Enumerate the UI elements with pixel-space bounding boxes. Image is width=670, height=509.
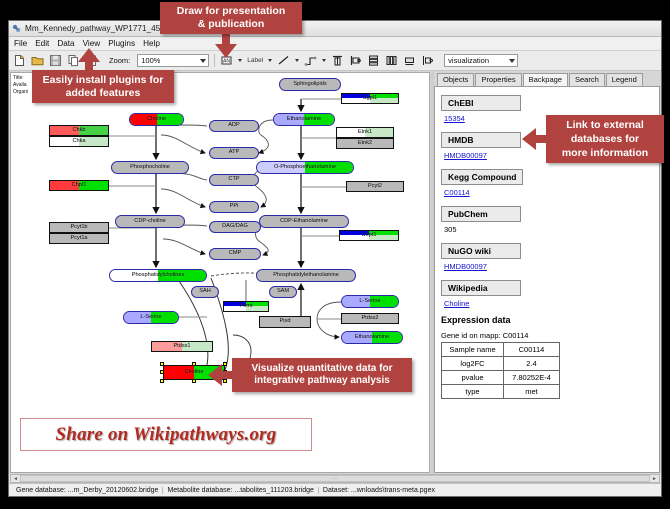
pathway-gene-sgpl1[interactable]: Sgpl1 <box>341 93 399 104</box>
callout-links-arrow <box>522 128 536 150</box>
chevron-down-icon <box>509 59 515 63</box>
node-label: SAH <box>199 289 211 295</box>
pathway-node-adp[interactable]: ADP <box>209 120 259 132</box>
node-label: Pisd <box>280 319 291 325</box>
open-folder-icon[interactable] <box>31 54 44 67</box>
pathway-gene-etnk1[interactable]: Etnk1 <box>336 127 394 138</box>
node-label: Ptdss1 <box>173 344 190 350</box>
line-dropdown-caret[interactable] <box>295 59 299 62</box>
pathway-gene-pcyt1a[interactable]: Pcyt1a <box>49 233 109 244</box>
node-label: Etnk2 <box>358 141 372 147</box>
pathway-node-l-serine-right[interactable]: L-Serine <box>341 295 399 308</box>
callout-draw-arrow <box>215 44 237 58</box>
menu-bar: File Edit Data View Plugins Help <box>9 37 661 51</box>
section-heading: NuGO wiki <box>441 243 521 259</box>
node-label: Phosphocholine <box>130 165 170 171</box>
backpage-section-wikipedia: Wikipedia Choline <box>441 278 659 308</box>
node-label: DAG/DAG <box>222 224 248 230</box>
callout-share: Share on Wikipathways.org <box>20 418 312 451</box>
pathway-gene-chka[interactable]: Chka <box>49 136 109 147</box>
connector-dropdown-caret[interactable] <box>322 59 326 62</box>
horizontal-scrollbar[interactable]: ◄ ⋯ ► <box>10 474 660 483</box>
gene-id-line: Gene id on mapp: C00114 <box>441 331 659 340</box>
node-label: SAM <box>277 289 289 295</box>
pathway-gene-ptdss2[interactable]: Ptdss2 <box>341 313 399 324</box>
same-width-icon[interactable] <box>403 54 416 67</box>
row-key: pvalue <box>442 371 504 385</box>
align-top-icon[interactable] <box>331 54 344 67</box>
zoom-label: Zoom: <box>109 56 130 65</box>
svg-text:AN: AN <box>223 58 230 64</box>
node-label: Sgpl1 <box>363 96 377 102</box>
pathway-gene-chkb[interactable]: Chkb <box>49 125 109 136</box>
node-label: CMP <box>229 251 241 257</box>
align-left-icon[interactable] <box>349 54 362 67</box>
side-panel-tabs: Objects Properties Backpage Search Legen… <box>434 72 660 86</box>
label-tool-label[interactable]: Label <box>247 57 263 64</box>
pathway-node-ethanolamine[interactable]: Ethanolamine <box>273 113 335 126</box>
pathway-node-phosphatidylethanolamine[interactable]: Phosphatidylethanolamine <box>256 269 356 282</box>
nugo-link[interactable]: HMDB00097 <box>444 262 659 271</box>
callout-share-text: Share on Wikipathways.org <box>56 424 277 446</box>
selection-handle[interactable] <box>192 379 196 383</box>
tab-properties[interactable]: Properties <box>475 73 521 86</box>
pathway-node-cmp[interactable]: CMP <box>209 248 261 260</box>
row-value: 2.4 <box>504 357 560 371</box>
section-heading: ChEBI <box>441 95 521 111</box>
pathway-node-cdp-ethanolamine[interactable]: CDP-Ethanolamine <box>259 215 349 228</box>
zoom-combobox[interactable]: 100% <box>137 54 209 67</box>
pathway-node-ppi[interactable]: PPi <box>209 201 259 213</box>
callout-plugins-line2: added features <box>66 87 141 100</box>
node-label: Ethanolamine <box>355 335 389 341</box>
callout-visualize-line2: integrative pathway analysis <box>254 375 390 387</box>
status-metabolite-database: Metabolite database: ...tabolites_111203… <box>163 487 318 494</box>
selection-handle[interactable] <box>223 362 227 366</box>
callout-visualize-line1: Visualize quantitative data for <box>252 363 393 375</box>
node-label: Choline <box>147 117 166 123</box>
row-key: Sample name <box>442 343 504 357</box>
pathway-gene-pemt[interactable]: Pemt <box>223 301 269 312</box>
callout-links-line3: more information <box>562 146 648 160</box>
callout-links-line1: Link to external <box>566 118 644 132</box>
node-label: Choline <box>185 370 204 376</box>
node-label: Phosphatidylethanolamine <box>273 273 339 279</box>
scrollbar-thumb[interactable]: ⋯ <box>20 475 650 482</box>
section-heading: HMDB <box>441 132 521 148</box>
node-label: Ptdss2 <box>361 316 378 322</box>
line-icon[interactable] <box>277 54 290 67</box>
node-label: CDP-Ethanolamine <box>280 219 328 225</box>
pathway-gene-cept1[interactable]: Cept1 <box>339 230 399 241</box>
zoom-value: 100% <box>141 56 160 65</box>
pathway-gene-ptdss1[interactable]: Ptdss1 <box>151 341 213 352</box>
node-label: Chkb <box>72 128 85 134</box>
tab-legend[interactable]: Legend <box>606 73 643 86</box>
callout-visualize: Visualize quantitative data for integrat… <box>232 358 412 392</box>
pathway-node-phosphocholine[interactable]: Phosphocholine <box>111 161 189 174</box>
pubchem-value: 305 <box>444 225 659 234</box>
menu-help[interactable]: Help <box>143 39 160 48</box>
pathway-node-cdp-choline[interactable]: CDP-choline <box>115 215 185 228</box>
selection-handle[interactable] <box>223 379 227 383</box>
callout-visualize-arrow <box>208 364 222 386</box>
pathway-gene-pcyt2[interactable]: Pcyt2 <box>346 181 404 192</box>
node-label: Chka <box>72 139 85 145</box>
pathway-gene-chpt1[interactable]: Chpt1 <box>49 180 109 191</box>
pathway-node-choline-top[interactable]: Choline <box>129 113 184 126</box>
callout-plugins: Easily install plugins for added feature… <box>32 70 174 103</box>
node-label: Ethanolamine <box>287 117 321 123</box>
menu-file[interactable]: File <box>14 39 27 48</box>
row-key: type <box>442 385 504 399</box>
pathway-gene-pisd[interactable]: Pisd <box>259 316 311 328</box>
save-disk-icon[interactable] <box>49 54 62 67</box>
callout-draw-line1: Draw for presentation <box>177 5 286 18</box>
callout-draw: Draw for presentation & publication <box>160 2 302 34</box>
tab-backpage[interactable]: Backpage <box>523 73 568 87</box>
visualization-value: visualization <box>448 56 489 65</box>
expression-data-table: Sample name C00114 log2FC 2.4 pvalue 7.8… <box>441 342 560 399</box>
menu-data[interactable]: Data <box>57 39 74 48</box>
node-label: L-Serine <box>140 315 161 321</box>
pathway-node-sam[interactable]: SAM <box>269 286 297 298</box>
same-height-icon[interactable] <box>421 54 434 67</box>
callout-links-line2: databases for <box>571 132 639 146</box>
callout-links: Link to external databases for more info… <box>546 115 664 163</box>
expression-data-title: Expression data <box>441 315 659 325</box>
wikipedia-link[interactable]: Choline <box>444 299 659 308</box>
section-heading: Kegg Compound <box>441 169 523 185</box>
node-label: Pcyt1a <box>70 236 87 242</box>
callout-plugins-arrow <box>78 48 100 62</box>
pathway-node-dag[interactable]: DAG/DAG <box>209 221 261 233</box>
node-label: CTP <box>228 177 239 183</box>
title-bar: Mm_Kennedy_pathway_WP1771_45176.gpml <box>9 21 661 37</box>
pathway-node-sah[interactable]: SAH <box>191 286 219 298</box>
backpage-section-kegg: Kegg Compound C00114 <box>441 167 659 197</box>
callout-draw-line2: & publication <box>198 18 265 31</box>
node-label: Etnk1 <box>358 130 372 136</box>
distribute-horizontal-icon[interactable] <box>385 54 398 67</box>
tab-objects[interactable]: Objects <box>437 73 474 86</box>
scroll-left-arrow-icon[interactable]: ◄ <box>11 475 20 482</box>
node-label: Phosphatidylcholines <box>132 273 185 279</box>
status-bar: Gene database: ...m_Derby_20120602.bridg… <box>9 483 661 496</box>
backpage-section-pubchem: PubChem 305 <box>441 204 659 234</box>
node-label: Pcyt2 <box>368 184 382 190</box>
pathway-node-sphingolipids[interactable]: Sphingolipids <box>279 78 341 91</box>
pathway-node-l-serine-left[interactable]: L-Serine <box>123 311 179 324</box>
node-label: ATP <box>229 150 239 156</box>
scroll-right-arrow-icon[interactable]: ► <box>650 475 659 482</box>
pathway-gene-pcyt1b[interactable]: Pcyt1b <box>49 222 109 233</box>
datanode-dropdown-caret[interactable] <box>238 59 242 62</box>
status-dataset: Dataset: ...wnloads\trans-meta.pgex <box>319 487 439 494</box>
toolbar: Zoom: 100% AN Label <box>9 51 661 71</box>
row-key: log2FC <box>442 357 504 371</box>
status-gene-database: Gene database: ...m_Derby_20120602.bridg… <box>12 487 163 494</box>
pathway-node-ethanolamine-lower[interactable]: Ethanolamine <box>341 331 403 344</box>
node-label: PPi <box>230 204 239 210</box>
pathway-canvas[interactable]: Title: Availa Organi <box>10 72 430 473</box>
section-heading: Wikipedia <box>441 280 521 296</box>
callout-plugins-line1: Easily install plugins for <box>43 74 164 87</box>
elbow-connector-icon[interactable] <box>304 54 317 67</box>
node-label: Cept1 <box>362 233 377 239</box>
label-dropdown-caret[interactable] <box>268 59 272 62</box>
row-value: met <box>504 385 560 399</box>
node-label: Sphingolipids <box>293 82 326 88</box>
node-label: Pcyt1b <box>70 225 87 231</box>
selection-handle[interactable] <box>160 362 164 366</box>
node-label: O-Phosphoethanolamine <box>274 165 336 171</box>
pathway-node-ctp[interactable]: CTP <box>209 174 259 186</box>
stack-vertical-icon[interactable] <box>367 54 380 67</box>
app-icon <box>12 24 21 33</box>
section-heading: PubChem <box>441 206 521 222</box>
node-label: CDP-choline <box>134 219 165 225</box>
table-row: log2FC 2.4 <box>442 357 560 371</box>
menu-plugins[interactable]: Plugins <box>108 39 135 48</box>
pathway-node-o-phosphoethanolamine[interactable]: O-Phosphoethanolamine <box>256 161 354 174</box>
node-label: Pemt <box>239 304 252 310</box>
node-label: ADP <box>228 123 240 129</box>
pathway-node-phosphatidylcholines[interactable]: Phosphatidylcholines <box>109 269 207 282</box>
row-value: C00114 <box>504 343 560 357</box>
table-row: Sample name C00114 <box>442 343 560 357</box>
kegg-link[interactable]: C00114 <box>444 188 659 197</box>
pathway-node-atp[interactable]: ATP <box>209 147 259 159</box>
menu-edit[interactable]: Edit <box>35 39 49 48</box>
tab-search[interactable]: Search <box>569 73 605 86</box>
selection-handle[interactable] <box>160 379 164 383</box>
table-row: type met <box>442 385 560 399</box>
pathway-gene-etnk2[interactable]: Etnk2 <box>336 138 394 149</box>
node-label: Chpt1 <box>72 183 87 189</box>
visualization-combobox[interactable]: visualization <box>444 54 518 67</box>
backpage-section-nugo: NuGO wiki HMDB00097 <box>441 241 659 271</box>
node-label: L-Serine <box>359 299 380 305</box>
selection-handle[interactable] <box>160 370 164 374</box>
chevron-down-icon <box>200 59 206 63</box>
menu-view[interactable]: View <box>83 39 101 48</box>
selection-handle[interactable] <box>192 362 196 366</box>
table-row: pvalue 7.80252E-4 <box>442 371 560 385</box>
new-document-icon[interactable] <box>13 54 26 67</box>
row-value: 7.80252E-4 <box>504 371 560 385</box>
